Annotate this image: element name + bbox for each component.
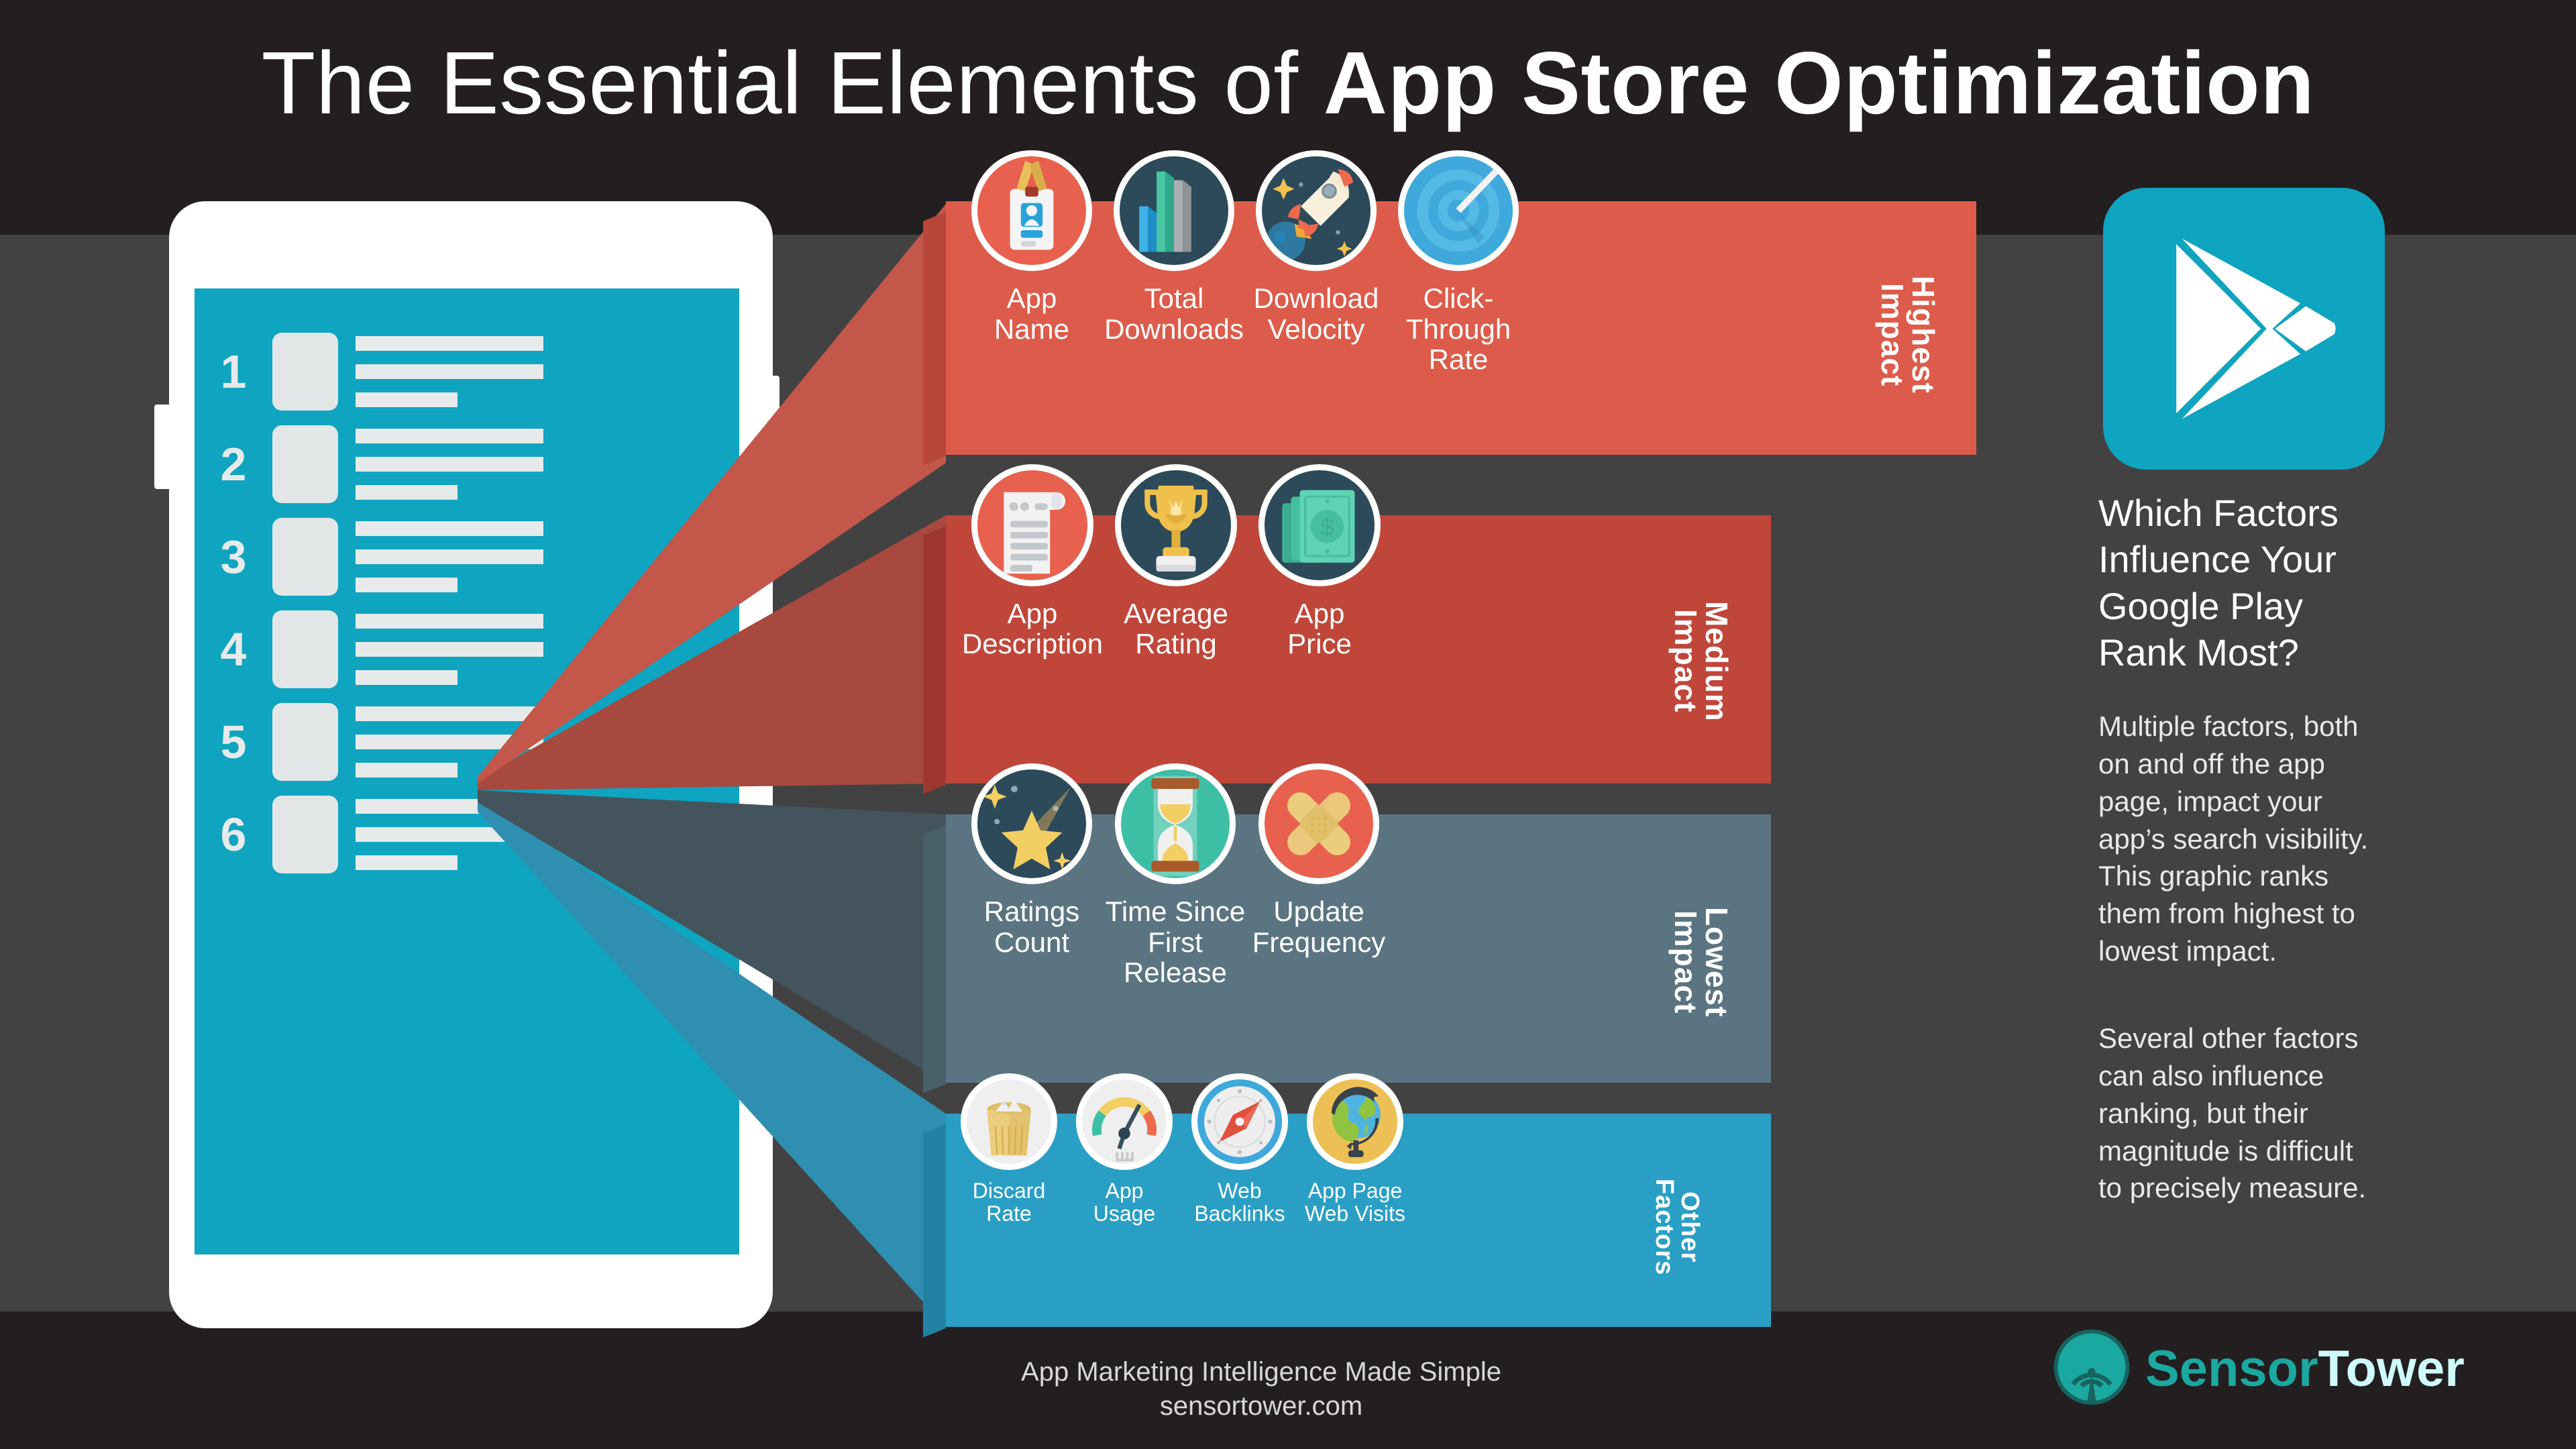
factor-item[interactable]: Discard Rate [961,1073,1057,1226]
factor-label: Time Since First Release [1093,896,1257,987]
factor-item[interactable]: App Page Web Visits [1307,1073,1403,1226]
factor-label: Click-Through Rate [1377,283,1540,374]
gauge-icon [1076,1073,1173,1170]
sensor-tower-wordmark: SensorTower [2145,1340,2465,1398]
impact-band-tag: Other Factors [1652,1140,1703,1313]
right-column-paragraph-2: Several other factors can also influence… [2098,1020,2380,1207]
impact-band: Ratings CountTime Since First ReleaseUpd… [946,814,1771,1083]
factor-label: App Price [1238,598,1401,659]
impact-band-edge [923,526,946,794]
factor-item[interactable]: Click-Through Rate [1398,150,1519,374]
impact-band-items: App NameTotal DownloadsDownload Velocity… [971,150,1540,404]
factor-item[interactable]: App Description [971,464,1093,659]
bar-chart-icon [1114,150,1234,271]
bandage-icon [1258,763,1379,884]
factor-item[interactable]: App Usage [1076,1073,1173,1226]
factor-item[interactable]: Update Frequency [1258,763,1379,957]
rocket-icon [1256,150,1377,271]
impact-band: App DescriptionAverage Rating$App PriceM… [946,515,1771,784]
id-badge-icon [971,150,1092,271]
impact-band-tag: Medium Impact [1670,552,1732,770]
factor-item[interactable]: Time Since First Release [1115,763,1236,987]
trophy-icon [1115,464,1237,586]
factor-label: Ratings Count [950,896,1114,957]
factor-label: Total Downloads [1093,283,1255,344]
factor-label: Average Rating [1094,598,1258,659]
factor-item[interactable]: Ratings Count [971,763,1092,957]
right-column-paragraph-1: Multiple factors, both on and off the ap… [2098,708,2380,970]
factor-label: App Name [951,283,1113,344]
globe-icon [1307,1073,1403,1170]
factor-label: Download Velocity [1235,283,1397,344]
factor-item[interactable]: Web Backlinks [1191,1073,1288,1226]
impact-band-tag: Lowest Impact [1670,855,1732,1069]
logo-word-tower: Tower [2318,1340,2465,1397]
factor-item[interactable]: App Name [971,150,1092,344]
right-column-heading: Which Factors Influence Your Google Play… [2098,490,2394,676]
target-arrow-icon [1398,150,1519,271]
footer: App Marketing Intelligence Made Simple s… [926,1355,1597,1424]
factor-label: Update Frequency [1237,896,1401,957]
trash-bin-icon [961,1073,1057,1170]
document-icon [971,464,1093,586]
impact-band-edge [923,825,946,1093]
impact-band-tag: Highest Impact [1877,228,1939,441]
impact-band: App NameTotal DownloadsDownload Velocity… [946,201,1976,455]
impact-band-items: App DescriptionAverage Rating$App Price [971,464,1402,733]
hourglass-icon [1115,763,1236,884]
factor-label: App Description [951,598,1114,659]
shooting-star-icon [971,763,1092,884]
money-icon: $ [1258,464,1381,586]
sensor-tower-icon [2053,1328,2131,1409]
footer-tagline: App Marketing Intelligence Made Simple [926,1355,1597,1389]
factor-item[interactable]: Total Downloads [1114,150,1234,344]
factor-item[interactable]: Download Velocity [1256,150,1377,344]
impact-band: Discard RateApp UsageWeb BacklinksApp Pa… [946,1114,1771,1327]
svg-text:$: $ [1320,513,1334,540]
impact-band-items: Ratings CountTime Since First ReleaseUpd… [971,763,1402,1032]
factor-item[interactable]: Average Rating [1115,464,1237,659]
footer-website: sensortower.com [926,1389,1597,1424]
factor-item[interactable]: $App Price [1258,464,1381,659]
impact-band-edge [923,1124,946,1338]
compass-icon [1191,1073,1288,1170]
impact-band-items: Discard RateApp UsageWeb BacklinksApp Pa… [961,1073,1422,1287]
factor-label: App Page Web Visits [1287,1179,1423,1226]
logo-word-sensor: Sensor [2145,1340,2318,1397]
google-play-icon [2103,188,2385,470]
sensor-tower-logo[interactable]: SensorTower [2053,1325,2442,1412]
impact-band-edge [923,212,946,466]
